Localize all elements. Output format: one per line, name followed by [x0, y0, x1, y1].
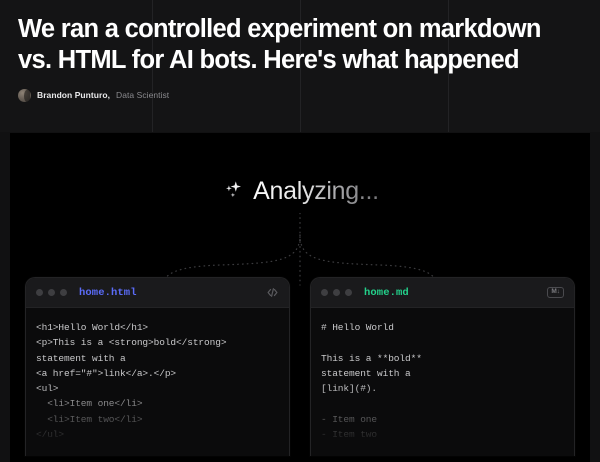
- hero-illustration: Analyzing... home.html: [10, 133, 590, 462]
- author-byline: Brandon Punturo, Data Scientist: [18, 89, 582, 102]
- code-window-markdown[interactable]: home.md M↓ # Hello World This is a **bol…: [310, 277, 575, 456]
- analyzing-status: Analyzing...: [10, 177, 590, 206]
- window-close-dot[interactable]: [321, 289, 328, 296]
- analyzing-label: Analyzing...: [253, 177, 379, 206]
- window-minimize-dot[interactable]: [333, 289, 340, 296]
- page-title: We ran a controlled experiment on markdo…: [18, 14, 563, 77]
- filename-label-markdown: home.md: [364, 287, 409, 299]
- window-control-dots[interactable]: [36, 289, 67, 296]
- sparkles-icon: [221, 178, 246, 203]
- code-text-html: <h1>Hello World</h1> <p>This is a <stron…: [36, 320, 279, 442]
- page-root: We ran a controlled experiment on markdo…: [0, 0, 600, 462]
- markdown-icon: M↓: [547, 287, 564, 298]
- avatar: [18, 89, 31, 102]
- window-maximize-dot[interactable]: [345, 289, 352, 296]
- author-role: Data Scientist: [116, 90, 169, 100]
- markdown-badge-label: M↓: [547, 287, 564, 298]
- window-maximize-dot[interactable]: [60, 289, 67, 296]
- code-body-html: <h1>Hello World</h1> <p>This is a <stron…: [26, 308, 289, 456]
- code-body-markdown: # Hello World This is a **bold** stateme…: [311, 308, 574, 456]
- window-close-dot[interactable]: [36, 289, 43, 296]
- code-window-html[interactable]: home.html <h1>Hello World</h1> <p>This i…: [25, 277, 290, 456]
- window-minimize-dot[interactable]: [48, 289, 55, 296]
- code-text-markdown: # Hello World This is a **bold** stateme…: [321, 320, 564, 442]
- author-name: Brandon Punturo,: [37, 90, 110, 100]
- article-header: We ran a controlled experiment on markdo…: [0, 0, 600, 132]
- code-brackets-icon: [266, 286, 279, 299]
- filename-label-html: home.html: [79, 287, 137, 299]
- window-titlebar: home.html: [26, 278, 289, 308]
- window-titlebar: home.md M↓: [311, 278, 574, 308]
- window-control-dots[interactable]: [321, 289, 352, 296]
- code-windows: home.html <h1>Hello World</h1> <p>This i…: [25, 277, 575, 456]
